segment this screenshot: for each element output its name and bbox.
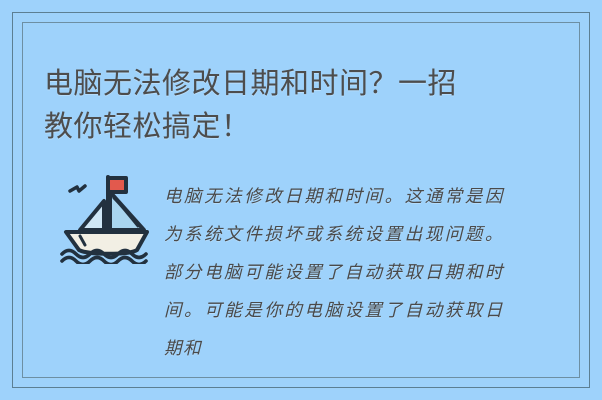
- sailboat-icon: [52, 168, 156, 264]
- article-card: 电脑无法修改日期和时间？一招 教你轻松搞定！: [0, 0, 602, 400]
- article-body-row: 电脑无法修改日期和时间。这通常是因为系统文件损坏或系统设置出现问题。部分电脑可能…: [44, 160, 558, 385]
- page-title: 电脑无法修改日期和时间？一招 教你轻松搞定！: [44, 63, 514, 149]
- illustration-container: [44, 160, 164, 264]
- article-body-text: 电脑无法修改日期和时间。这通常是因为系统文件损坏或系统设置出现问题。部分电脑可能…: [164, 178, 504, 368]
